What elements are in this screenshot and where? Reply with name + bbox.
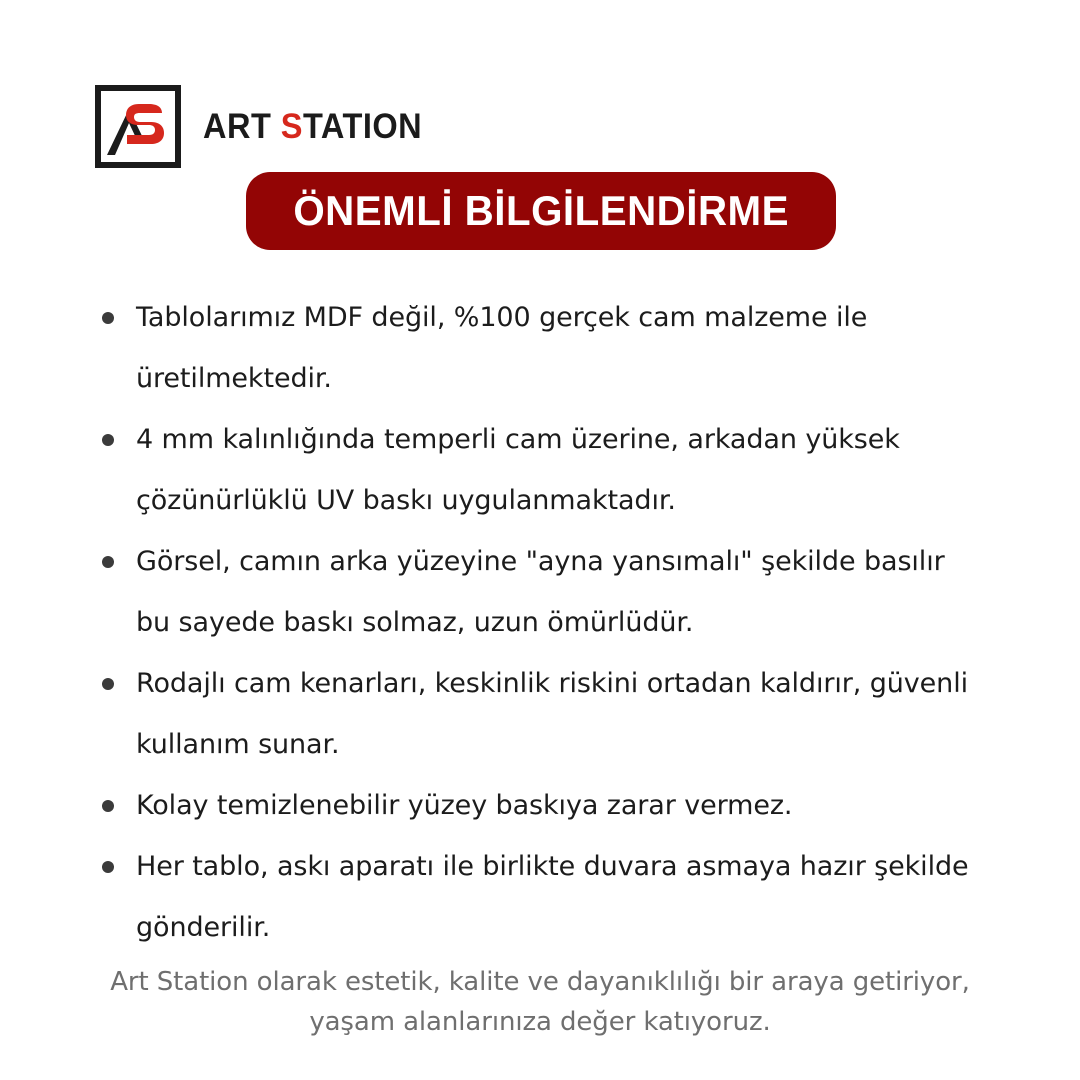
list-item-text: 4 mm kalınlığında temperli cam üzerine, … — [136, 409, 1038, 531]
footer-slogan-line-1: Art Station olarak estetik, kalite ve da… — [0, 962, 1080, 1002]
list-item: Kolay temizlenebilir yüzey baskıya zarar… — [98, 775, 1038, 836]
footer-slogan: Art Station olarak estetik, kalite ve da… — [0, 962, 1080, 1042]
brand-header: ART STATION — [95, 85, 439, 168]
art-station-monogram-icon — [95, 85, 181, 168]
footer-slogan-line-2: yaşam alanlarınıza değer katıyoruz. — [0, 1002, 1080, 1042]
wordmark-tation: TATION — [303, 107, 422, 146]
list-item: Görsel, camın arka yüzeyine "ayna yansım… — [98, 531, 1038, 653]
list-item-text: Her tablo, askı aparatı ile birlikte duv… — [136, 836, 1038, 958]
wordmark-s-accent: S — [281, 107, 303, 146]
list-item: Her tablo, askı aparatı ile birlikte duv… — [98, 836, 1038, 958]
notice-bullet-list: Tablolarımız MDF değil, %100 gerçek cam … — [98, 287, 1038, 958]
list-item: 4 mm kalınlığında temperli cam üzerine, … — [98, 409, 1038, 531]
wordmark-art: ART — [203, 107, 281, 146]
banner-title: ÖNEMLİ BİLGİLENDİRME — [293, 190, 789, 232]
list-item: Tablolarımız MDF değil, %100 gerçek cam … — [98, 287, 1038, 409]
brand-wordmark: ART STATION — [203, 109, 422, 144]
list-item: Rodajlı cam kenarları, keskinlik riskini… — [98, 653, 1038, 775]
informational-graphic-page: ART STATION ÖNEMLİ BİLGİLENDİRME Tablola… — [0, 0, 1080, 1080]
list-item-text: Kolay temizlenebilir yüzey baskıya zarar… — [136, 775, 1038, 836]
list-item-text: Tablolarımız MDF değil, %100 gerçek cam … — [136, 287, 1038, 409]
list-item-text: Görsel, camın arka yüzeyine "ayna yansım… — [136, 531, 1038, 653]
list-item-text: Rodajlı cam kenarları, keskinlik riskini… — [136, 653, 1038, 775]
important-notice-banner: ÖNEMLİ BİLGİLENDİRME — [246, 172, 836, 250]
